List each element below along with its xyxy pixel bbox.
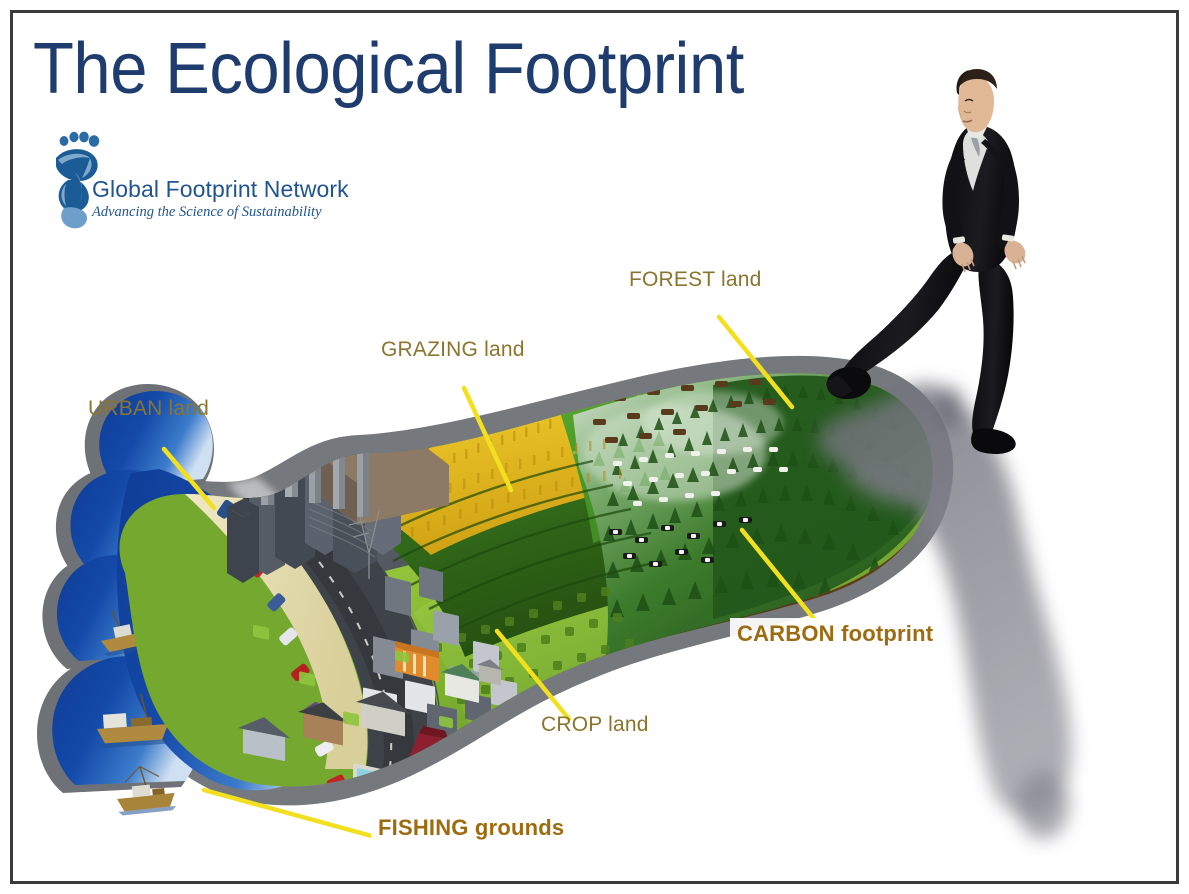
cast-shadow: [819, 383, 1071, 839]
footprint-landmass: [103, 199, 983, 839]
logo-name: Global Footprint Network: [92, 176, 342, 203]
logo-tagline: Advancing the Science of Sustainability: [92, 204, 342, 221]
label-crop-land: CROP land: [541, 713, 649, 737]
page-title: The Ecological Footprint: [33, 26, 744, 112]
slide-canvas: The Ecological Footprint Global Footprin…: [0, 0, 1189, 894]
global-footprint-network-logo: Global Footprint Network Advancing the S…: [40, 126, 345, 234]
label-grazing-land: GRAZING land: [381, 338, 525, 362]
label-fishing-grounds: FISHING grounds: [371, 812, 571, 844]
label-forest-land: FOREST land: [629, 268, 762, 292]
label-urban-land: URBAN land: [88, 397, 209, 421]
label-carbon-footprint: CARBON footprint: [730, 618, 940, 650]
